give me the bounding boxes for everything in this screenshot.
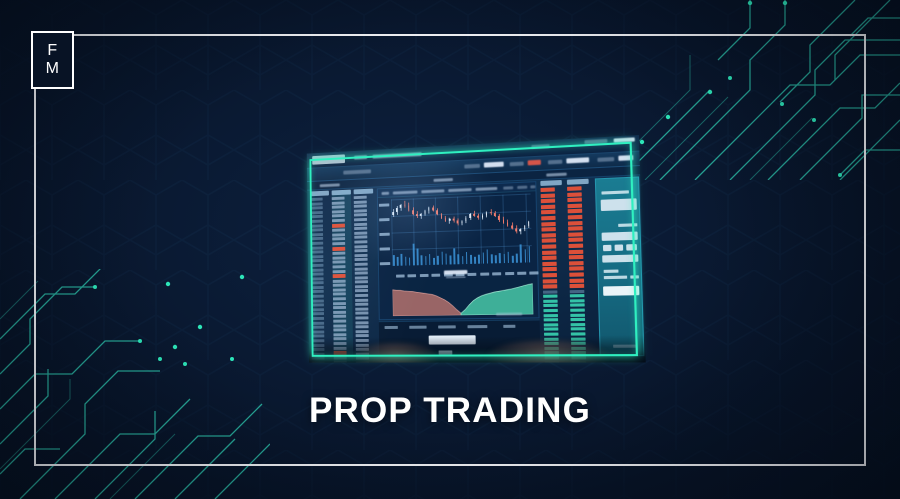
order-book-row[interactable]	[333, 293, 346, 296]
candlestick	[440, 197, 442, 239]
volume-bar	[524, 249, 526, 262]
order-book-row[interactable]	[569, 272, 584, 276]
order-book-row[interactable]	[543, 304, 557, 307]
order-book-row[interactable]	[333, 284, 346, 287]
order-book-row[interactable]	[310, 206, 323, 209]
x-axis-tick	[517, 272, 526, 275]
order-book-row[interactable]	[310, 211, 323, 214]
order-book-row[interactable]	[333, 320, 346, 323]
order-book-header	[354, 189, 374, 195]
topbar-menu-item	[373, 152, 422, 159]
order-book-row[interactable]	[544, 328, 558, 331]
order-book-row[interactable]	[542, 261, 556, 265]
order-book-row[interactable]	[542, 233, 556, 238]
order-book-row[interactable]	[333, 333, 346, 336]
circuit-top-right-icon	[600, 0, 900, 180]
topbar-logo-pill	[312, 154, 345, 164]
candlestick	[473, 196, 475, 238]
order-book-row[interactable]	[310, 237, 323, 240]
candlestick	[428, 198, 430, 240]
order-book-row[interactable]	[354, 218, 367, 221]
order-book-row[interactable]	[355, 325, 368, 328]
candlestick	[416, 198, 418, 239]
order-book-row[interactable]	[543, 295, 557, 298]
page-title: PROP TRADING	[0, 391, 900, 431]
order-book-row[interactable]	[332, 201, 345, 204]
order-book-row[interactable]	[354, 196, 367, 199]
candlestick	[436, 197, 438, 239]
order-book-row[interactable]	[542, 256, 556, 260]
order-book-row[interactable]	[542, 239, 556, 244]
order-book-row[interactable]	[311, 268, 324, 271]
order-panel-label	[618, 223, 637, 227]
volume-bar	[474, 256, 476, 263]
order-book-row[interactable]	[567, 198, 582, 203]
volume-bar	[462, 256, 464, 264]
volume-bar	[470, 255, 472, 264]
order-book-row[interactable]	[311, 304, 324, 307]
candlestick	[469, 196, 471, 238]
order-book-row[interactable]	[568, 226, 583, 231]
order-book-row[interactable]	[332, 242, 345, 245]
chart-ohlc	[476, 187, 498, 190]
order-book-row[interactable]	[571, 323, 586, 326]
order-book-row[interactable]	[354, 245, 367, 248]
order-book-row[interactable]	[569, 255, 584, 259]
order-book-row[interactable]	[354, 249, 367, 252]
order-book-row[interactable]	[570, 309, 585, 312]
order-book-row[interactable]	[355, 289, 368, 292]
candlestick	[424, 198, 426, 240]
ticker-label	[343, 169, 371, 174]
chart-tool-button[interactable]	[530, 185, 535, 188]
order-input-field[interactable]	[602, 254, 638, 262]
area-series-decline	[392, 289, 461, 317]
order-book-row[interactable]	[332, 229, 345, 232]
volume-bar	[529, 246, 531, 262]
chart-ohlc	[393, 190, 418, 194]
volume-bar	[516, 253, 518, 262]
headline-text: PROP TRADING	[309, 391, 591, 430]
order-book-row[interactable]	[332, 237, 345, 240]
bottom-panel-label	[385, 326, 398, 329]
order-book-row[interactable]	[310, 198, 323, 201]
order-book-row[interactable]	[333, 297, 346, 300]
order-book-row[interactable]	[541, 210, 555, 215]
order-book-row[interactable]	[569, 243, 584, 248]
topbar-status	[531, 144, 549, 149]
order-book-row[interactable]	[333, 279, 346, 282]
order-book-row[interactable]	[311, 250, 324, 253]
order-book-row[interactable]	[571, 328, 586, 331]
order-book-row[interactable]	[333, 315, 346, 318]
volume-bar	[458, 254, 460, 264]
volume-bar	[393, 255, 395, 265]
topbar-status	[584, 139, 607, 144]
order-book-row[interactable]	[354, 231, 367, 234]
order-book-row[interactable]	[355, 258, 368, 261]
order-book-row[interactable]	[568, 215, 583, 220]
order-book-header	[567, 179, 589, 185]
volume-bar	[499, 253, 501, 263]
order-book-row[interactable]	[310, 224, 323, 227]
order-panel-value	[630, 275, 639, 278]
candlestick	[444, 197, 446, 239]
logo-letter-f: F	[47, 43, 57, 59]
order-book-row[interactable]	[570, 284, 585, 288]
order-book-row[interactable]	[310, 242, 323, 245]
volume-bar	[425, 256, 427, 265]
order-book-row[interactable]	[332, 256, 345, 259]
volume-bar	[405, 256, 407, 265]
volume-bar	[409, 258, 411, 266]
order-book-row[interactable]	[355, 267, 368, 270]
y-axis-tick	[380, 247, 390, 250]
order-entry-panel	[595, 176, 645, 356]
order-book-row[interactable]	[355, 312, 368, 315]
candlestick	[498, 195, 501, 237]
order-book-row[interactable]	[333, 270, 346, 273]
order-book-row[interactable]	[311, 264, 324, 267]
order-book-row[interactable]	[355, 298, 368, 301]
order-book-row[interactable]	[543, 300, 557, 303]
order-book-row[interactable]	[332, 233, 345, 236]
topbar-menu-item	[354, 155, 367, 160]
x-axis-tick	[396, 274, 405, 277]
area-series-advance	[460, 284, 533, 316]
order-book-row[interactable]	[355, 316, 368, 319]
y-axis-tick	[379, 203, 389, 206]
order-book-row[interactable]	[354, 205, 367, 208]
volume-bar	[482, 253, 484, 264]
order-book-row[interactable]	[355, 303, 368, 306]
chart-symbol	[382, 192, 390, 195]
order-book-row[interactable]	[311, 277, 324, 280]
order-book-row[interactable]	[311, 330, 324, 333]
order-book-row[interactable]	[310, 220, 323, 223]
order-book-row[interactable]	[310, 246, 323, 249]
order-book-header	[332, 190, 351, 196]
order-book-row[interactable]	[332, 210, 345, 213]
candlestick	[510, 194, 513, 236]
order-book-row[interactable]	[541, 216, 555, 221]
poster-canvas: F M	[0, 0, 900, 499]
order-book-row[interactable]	[542, 267, 556, 271]
order-book-row[interactable]	[333, 261, 346, 264]
order-book-row[interactable]	[355, 272, 368, 275]
candlestick	[392, 199, 394, 240]
order-book-row[interactable]	[310, 233, 323, 236]
candlestick	[485, 195, 487, 237]
candlestick	[519, 194, 522, 237]
candlestick	[412, 199, 414, 240]
order-book-row[interactable]	[333, 302, 346, 305]
order-book-row[interactable]	[568, 232, 583, 237]
order-book-row[interactable]	[332, 246, 345, 250]
order-book-header	[540, 180, 562, 186]
volume-bar	[413, 244, 415, 266]
order-book-row[interactable]	[311, 259, 324, 262]
order-book-row[interactable]	[311, 295, 324, 298]
logo-letter-m: M	[46, 61, 60, 77]
chart-ohlc	[421, 189, 444, 192]
order-book-row[interactable]	[354, 236, 367, 239]
ticker-value	[566, 157, 589, 163]
fm-logo: F M	[31, 31, 74, 89]
order-book-row[interactable]	[567, 203, 582, 208]
candlestick	[404, 199, 406, 240]
order-toggle[interactable]	[603, 245, 612, 251]
order-book-row[interactable]	[355, 285, 368, 288]
order-book-row[interactable]	[311, 308, 324, 311]
volume-bar	[441, 252, 443, 265]
order-book-row[interactable]	[568, 221, 583, 226]
candlestick	[432, 198, 434, 240]
order-panel-label	[604, 270, 619, 273]
order-panel-label	[604, 276, 627, 280]
order-panel-title	[601, 190, 628, 194]
ticker-label	[464, 164, 480, 169]
volume-bar	[507, 252, 509, 263]
y-axis-tick	[379, 218, 389, 221]
x-axis-tick	[420, 274, 429, 277]
candlestick	[515, 194, 518, 237]
volume-bar	[433, 257, 435, 264]
order-book-row[interactable]	[541, 204, 555, 209]
order-book-row[interactable]	[568, 209, 583, 214]
order-book-row[interactable]	[311, 299, 324, 302]
volume-bar	[520, 244, 522, 262]
ticker-value	[484, 162, 504, 168]
order-input-field[interactable]	[602, 232, 638, 241]
order-book-row[interactable]	[333, 274, 346, 278]
order-book-row[interactable]	[311, 326, 324, 329]
order-book-row[interactable]	[310, 215, 323, 218]
order-book-row[interactable]	[569, 267, 584, 271]
bottom-panel-label	[467, 325, 487, 328]
chart-tool-button[interactable]	[503, 186, 513, 189]
order-book-row[interactable]	[333, 265, 346, 268]
volume-bar	[495, 255, 497, 263]
order-book-row[interactable]	[570, 290, 585, 293]
order-book-row[interactable]	[543, 309, 557, 312]
y-axis-tick	[380, 262, 390, 265]
bottom-panel-label	[503, 325, 515, 328]
order-book-row[interactable]	[332, 219, 345, 222]
order-book-row[interactable]	[355, 254, 368, 257]
order-book-row[interactable]	[310, 202, 323, 205]
x-axis-tick	[492, 272, 501, 275]
order-book-row[interactable]	[332, 197, 345, 200]
order-toggle[interactable]	[626, 244, 637, 251]
x-axis-tick	[530, 271, 539, 274]
order-book-row[interactable]	[541, 227, 555, 232]
candlestick	[465, 196, 467, 238]
order-book-row[interactable]	[310, 228, 323, 231]
order-book-row[interactable]	[311, 317, 324, 320]
order-book-row[interactable]	[569, 261, 584, 265]
section-header	[546, 173, 567, 177]
order-book-row[interactable]	[354, 222, 367, 225]
candlestick	[506, 194, 509, 236]
candlestick	[477, 196, 479, 238]
order-book-row[interactable]	[541, 199, 555, 204]
volume-bar	[453, 249, 455, 265]
order-book-row[interactable]	[567, 192, 582, 197]
order-book-row[interactable]	[355, 307, 368, 310]
order-book-row[interactable]	[333, 306, 346, 309]
chart-value-label	[444, 270, 468, 275]
candlestick	[481, 196, 483, 238]
order-toggle[interactable]	[615, 244, 624, 250]
bottom-panel-label	[409, 326, 426, 329]
volume-bar	[445, 254, 447, 265]
order-book-row[interactable]	[311, 286, 324, 289]
order-book-row[interactable]	[355, 294, 368, 297]
order-book-row[interactable]	[333, 288, 346, 291]
order-book-row[interactable]	[542, 244, 556, 248]
section-header	[434, 178, 453, 182]
section-header	[320, 183, 340, 187]
order-book-row[interactable]	[543, 284, 557, 288]
y-axis-tick	[379, 233, 389, 236]
x-axis-tick	[468, 273, 477, 276]
ticker-value	[618, 155, 633, 161]
order-book-row[interactable]	[354, 200, 367, 203]
candlestick	[489, 195, 491, 237]
order-book-row[interactable]	[332, 214, 345, 217]
order-book-row[interactable]	[355, 321, 368, 324]
order-input-field[interactable]	[601, 198, 637, 211]
terminal-screen	[307, 135, 646, 363]
volume-bar	[397, 257, 399, 266]
volume-bar	[512, 255, 514, 263]
order-book-row[interactable]	[570, 294, 585, 297]
candlestick	[420, 198, 422, 240]
volume-bar	[503, 254, 505, 263]
order-book-row[interactable]	[354, 209, 367, 212]
order-book-row[interactable]	[541, 193, 555, 198]
x-axis-tick	[480, 273, 489, 276]
volume-bar	[437, 255, 439, 264]
order-book-row[interactable]	[311, 313, 324, 316]
candlestick	[396, 199, 398, 240]
candlestick	[502, 195, 505, 237]
ticker-label	[510, 162, 524, 167]
order-book-row[interactable]	[311, 321, 324, 324]
order-book-row[interactable]	[570, 318, 585, 321]
volume-bar	[421, 255, 423, 265]
chart-tool-button[interactable]	[517, 186, 527, 189]
x-axis-tick	[408, 274, 417, 277]
order-book-row[interactable]	[543, 290, 557, 293]
candlestick	[452, 197, 454, 239]
order-book-row[interactable]	[544, 318, 558, 321]
volume-bar	[401, 254, 403, 266]
order-book-row[interactable]	[569, 249, 584, 254]
candlestick	[527, 194, 530, 237]
order-book-row[interactable]	[311, 281, 324, 284]
order-book-row[interactable]	[542, 250, 556, 254]
volume-bar	[486, 249, 488, 263]
order-book-row[interactable]	[570, 299, 585, 302]
volume-bar	[491, 254, 493, 263]
order-book-row[interactable]	[332, 252, 345, 255]
order-book-row[interactable]	[567, 186, 582, 191]
candlestick	[400, 199, 402, 240]
volume-bar	[429, 254, 431, 265]
order-book-row[interactable]	[355, 280, 368, 283]
order-book-row[interactable]	[355, 263, 368, 266]
volume-bar	[466, 252, 468, 264]
ticker-change-negative	[528, 160, 541, 166]
order-book-row[interactable]	[568, 238, 583, 243]
order-book-header	[310, 191, 329, 197]
order-book-row[interactable]	[332, 223, 345, 227]
candlestick	[448, 197, 450, 239]
order-book-row[interactable]	[544, 323, 558, 326]
x-axis-tick	[432, 274, 441, 277]
order-book-row[interactable]	[355, 276, 368, 279]
trading-terminal-photo	[295, 140, 640, 365]
topbar-account	[614, 137, 635, 142]
circuit-bottom-left-icon	[0, 269, 270, 499]
chart-ohlc	[448, 188, 471, 192]
order-book-row[interactable]	[544, 314, 558, 317]
order-book-row[interactable]	[311, 255, 324, 258]
order-book-row[interactable]	[333, 324, 346, 327]
order-book-row[interactable]	[333, 329, 346, 332]
order-book-row[interactable]	[354, 227, 367, 230]
breadth-area-chart	[392, 277, 533, 317]
candlestick-plot	[391, 194, 532, 266]
order-book-row[interactable]	[311, 273, 324, 276]
chart-y-axis	[379, 199, 392, 266]
order-book-row[interactable]	[570, 313, 585, 316]
area-chart-legend	[496, 312, 522, 315]
order-book-row[interactable]	[311, 290, 324, 293]
order-book-row[interactable]	[354, 213, 367, 216]
order-book-row[interactable]	[356, 330, 369, 333]
volume-bar	[478, 255, 480, 264]
candlestick	[494, 195, 496, 237]
order-book-row[interactable]	[354, 240, 367, 243]
order-book-row[interactable]	[332, 205, 345, 208]
order-book-row[interactable]	[541, 221, 555, 226]
volume-bar	[417, 249, 419, 266]
order-book-row[interactable]	[569, 278, 584, 282]
bottom-panel-label	[438, 325, 456, 328]
order-book-row[interactable]	[540, 187, 554, 192]
order-book-row[interactable]	[333, 311, 346, 314]
ticker-label	[548, 160, 562, 165]
order-book-row[interactable]	[543, 273, 557, 277]
x-axis-tick	[505, 272, 514, 275]
candlestick	[456, 197, 458, 239]
candlestick	[408, 199, 410, 240]
ticker-label	[597, 157, 614, 162]
volume-bar	[449, 256, 451, 265]
order-submit-button[interactable]	[603, 286, 639, 296]
order-book-row[interactable]	[543, 279, 557, 283]
candlestick	[461, 196, 463, 238]
candlestick	[523, 194, 526, 237]
price-chart-panel	[377, 181, 540, 320]
order-book-row[interactable]	[570, 304, 585, 307]
